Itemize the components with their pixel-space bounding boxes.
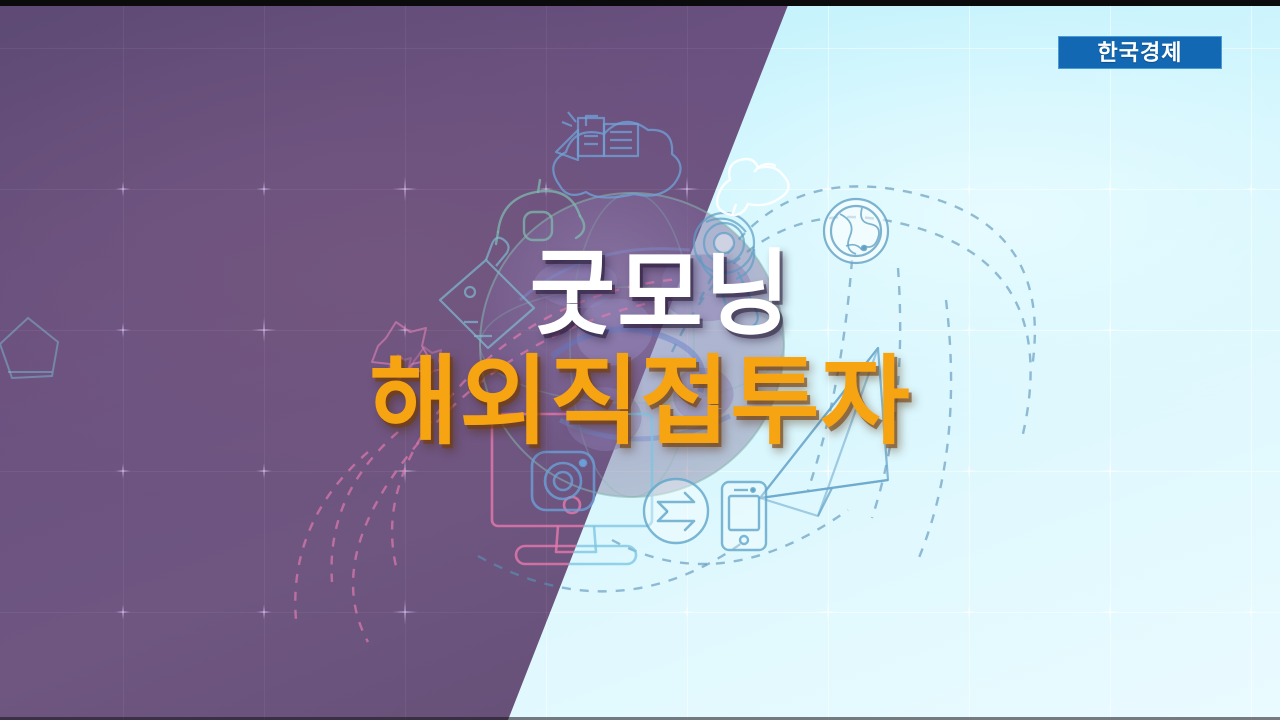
- central-illustration: [0, 0, 1280, 720]
- network-logo-text: 한국경제: [1098, 42, 1183, 64]
- globe-circle-icon: [824, 199, 888, 263]
- cloud-city-icon: [553, 112, 680, 198]
- star-outline-icon: [372, 322, 443, 380]
- exchange-arrows-icon: [644, 479, 708, 543]
- top-letterbox-band: [0, 0, 1280, 6]
- doodle-shapes: [0, 318, 58, 378]
- bird-icon: [717, 159, 788, 216]
- broadcast-title-card: 굿모닝 해외직접투자 한국경제: [0, 0, 1280, 720]
- smartphone-icon: [722, 482, 766, 550]
- network-logo: 한국경제: [1058, 36, 1222, 69]
